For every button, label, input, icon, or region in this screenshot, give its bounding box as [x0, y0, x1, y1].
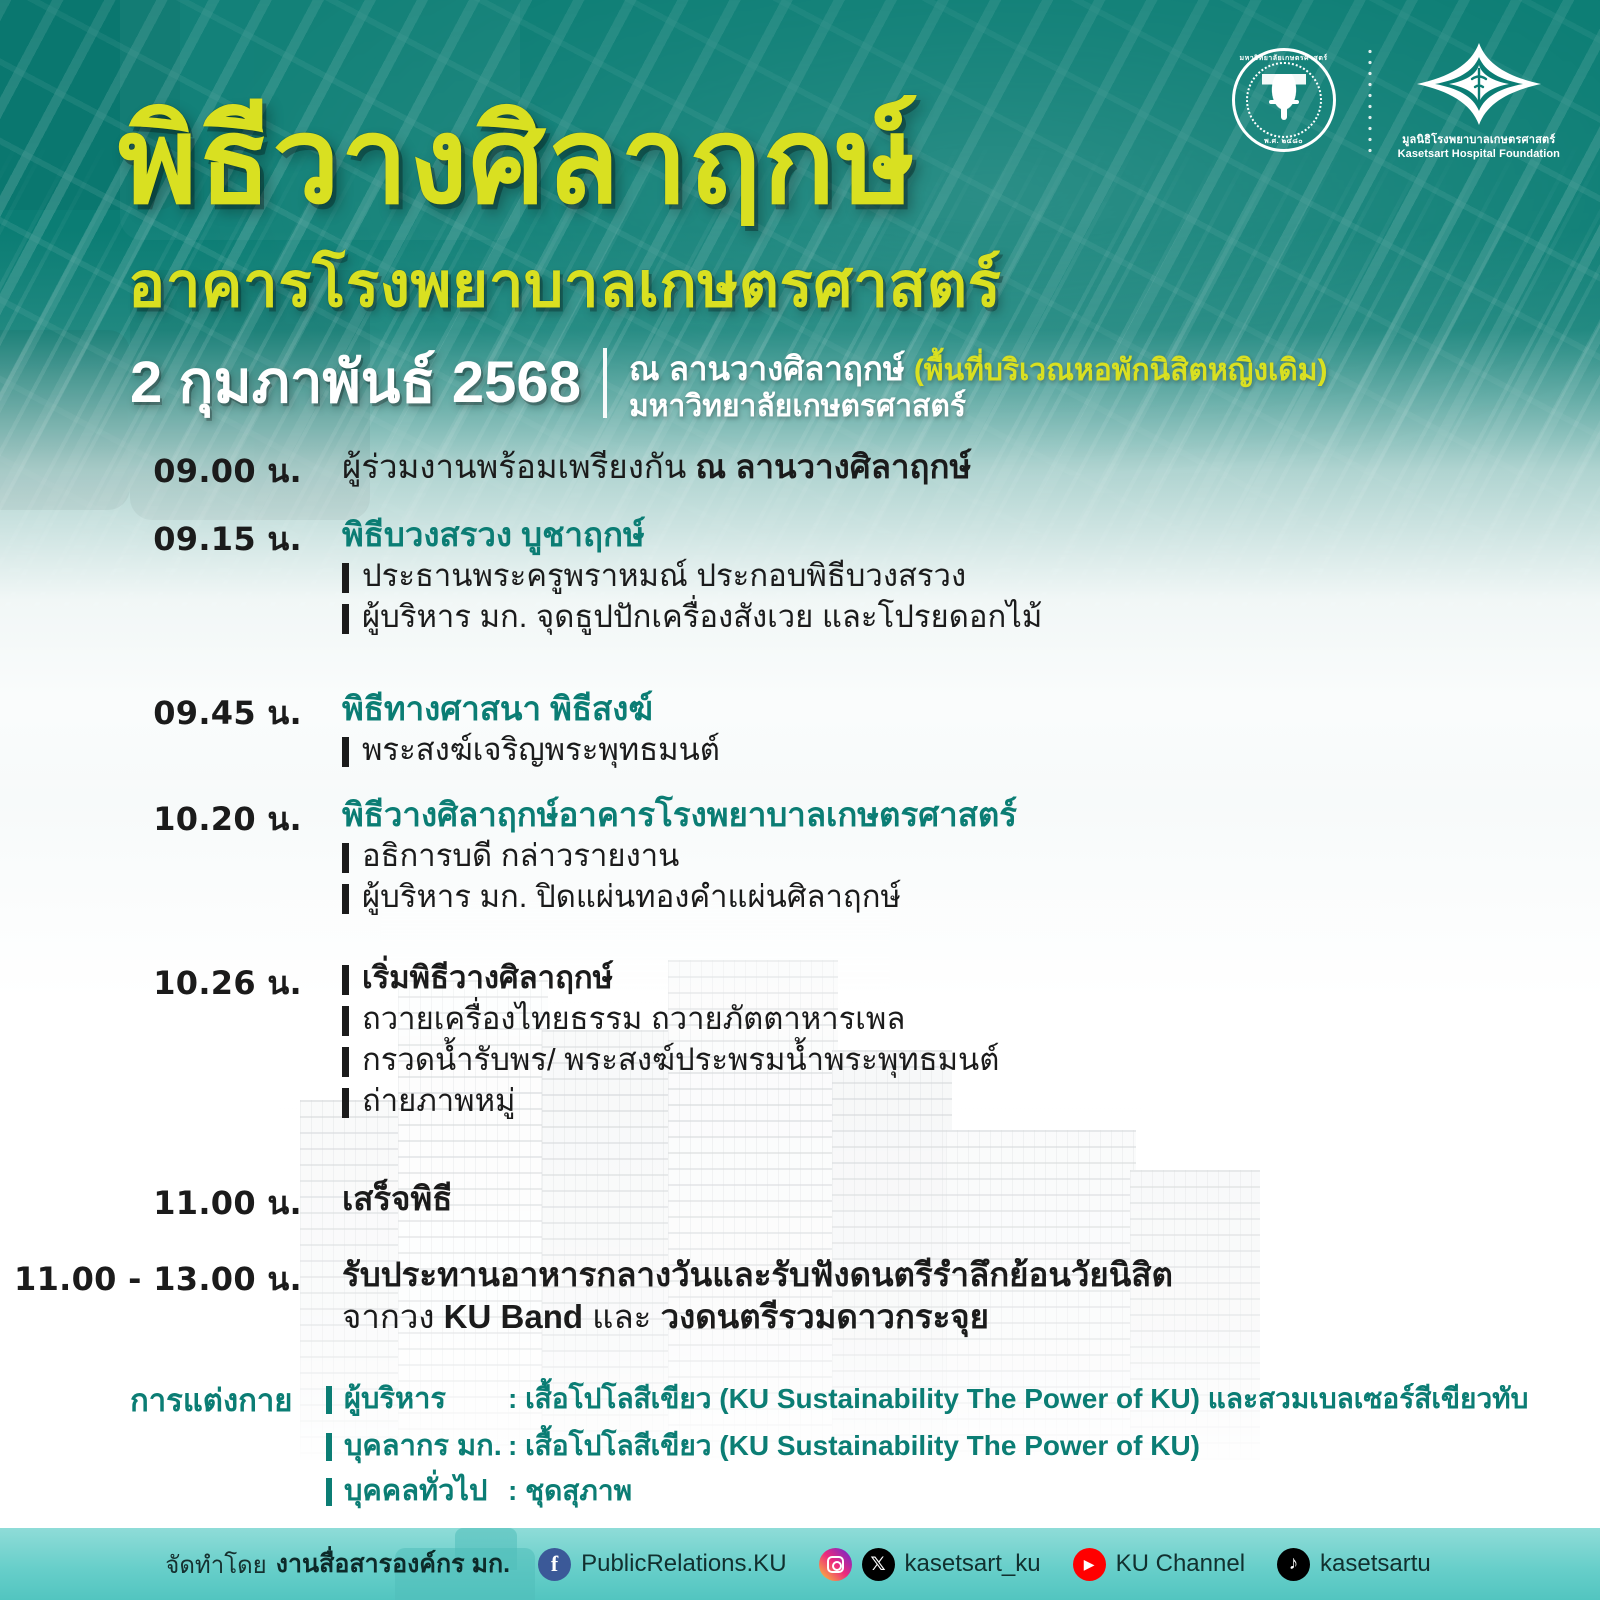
schedule-time: 09.00 น.	[0, 446, 330, 497]
page-title: พิธีวางศิลาฤกษ์	[118, 98, 916, 224]
dress-code-row: การแต่งกาย ผู้บริหาร : เสื้อโปโลสีเขียว …	[130, 1382, 1530, 1419]
schedule-heading: พิธีทางศาสนา พิธีสงฆ์	[342, 688, 1600, 730]
schedule-heading: พิธีบวงสรวง บูชาฤกษ์	[342, 514, 1600, 556]
schedule-sub-item: ถ่ายภาพหมู่	[342, 1081, 1600, 1122]
dress-code-row: บุคลากร มก. : เสื้อโปโลสีเขียว (KU Susta…	[130, 1429, 1530, 1464]
schedule-sub-item: กรวดน้ำรับพร/ พระสงฆ์ประพรมน้ำพระพุทธมนต…	[342, 1040, 1600, 1081]
schedule-sub-item: พระสงฆ์เจริญพระพุทธมนต์	[342, 730, 1600, 771]
footer-made-by-label: จัดทำโดย	[165, 1545, 266, 1584]
schedule-body: เริ่มพิธีวางศิลาฤกษ์ถวายเครื่องไทยธรรม ถ…	[330, 958, 1600, 1122]
kasetsart-hospital-foundation-logo	[1413, 41, 1545, 127]
page-subtitle: อาคารโรงพยาบาลเกษตรศาสตร์	[128, 252, 1001, 320]
schedule-heading-line2: จากวง KU Band และ วงดนตรีรวมดาวกระจุย	[342, 1296, 1600, 1338]
dress-code-value: : ชุดสุภาพ	[508, 1474, 632, 1508]
schedule-body: พิธีวางศิลาฤกษ์อาคารโรงพยาบาลเกษตรศาสตร์…	[330, 794, 1600, 918]
event-date: 2 กุมภาพันธ์ 2568	[130, 348, 581, 412]
schedule-body: ผู้ร่วมงานพร้อมเพรียงกัน ณ ลานวางศิลาฤกษ…	[330, 446, 1600, 497]
schedule-heading: รับประทานอาหารกลางวันและรับฟังดนตรีรำลึก…	[342, 1254, 1600, 1296]
schedule-body: พิธีบวงสรวง บูชาฤกษ์ประธานพระครูพราหมณ์ …	[330, 514, 1600, 638]
schedule-sub-item: อธิการบดี กล่าวรายงาน	[342, 836, 1600, 877]
poster-root: มหาวิทยาลัยเกษตรศาสตร์ พ.ศ. ๒๔๘๐ มูลนิธิ…	[0, 0, 1600, 1600]
ku-seal-top-text: มหาวิทยาลัยเกษตรศาสตร์	[1224, 53, 1344, 64]
footer-bar: จัดทำโดย งานสื่อสารองค์กร มก. f PublicRe…	[0, 1528, 1600, 1600]
schedule-heading: พิธีวางศิลาฤกษ์อาคารโรงพยาบาลเกษตรศาสตร์	[342, 794, 1600, 836]
dress-code-who: บุคคลทั่วไป	[326, 1474, 508, 1509]
schedule-row: 10.20 น.พิธีวางศิลาฤกษ์อาคารโรงพยาบาลเกษ…	[0, 794, 1600, 918]
ku-seal-icon: มหาวิทยาลัยเกษตรศาสตร์ พ.ศ. ๒๔๘๐	[1224, 40, 1344, 160]
dress-code-section: การแต่งกาย ผู้บริหาร : เสื้อโปโลสีเขียว …	[130, 1382, 1530, 1519]
schedule-body: เสร็จพิธี	[330, 1178, 1600, 1229]
schedule-row: 09.45 น.พิธีทางศาสนา พิธีสงฆ์พระสงฆ์เจริ…	[0, 688, 1600, 771]
youtube-icon[interactable]: ▶	[1073, 1548, 1106, 1581]
foundation-name-th: มูลนิธิโรงพยาบาลเกษตรศาสตร์	[1398, 130, 1560, 148]
social-x-twitter[interactable]: 𝕏 kasetsart_ku	[862, 1548, 1045, 1581]
venue-note: (พื้นที่บริเวณหอพักนิสิตหญิงเดิม)	[914, 354, 1328, 387]
header-logos: มหาวิทยาลัยเกษตรศาสตร์ พ.ศ. ๒๔๘๐ มูลนิธิ…	[1224, 40, 1560, 160]
dress-code-who: ผู้บริหาร	[326, 1382, 508, 1417]
social-tiktok[interactable]: ♪ kasetsartu	[1277, 1548, 1435, 1581]
schedule-sub-item: เริ่มพิธีวางศิลาฤกษ์	[342, 958, 1600, 999]
schedule-time: 11.00 - 13.00 น.	[0, 1254, 330, 1338]
logo-divider	[1368, 46, 1372, 154]
footer-organization: งานสื่อสารองค์กร มก.	[276, 1544, 510, 1584]
youtube-handle[interactable]: KU Channel	[1116, 1550, 1245, 1578]
tiktok-handle[interactable]: kasetsartu	[1320, 1550, 1431, 1578]
schedule-time: 10.26 น.	[0, 958, 330, 1122]
foundation-logo-block: มูลนิธิโรงพยาบาลเกษตรศาสตร์ Kasetsart Ho…	[1398, 41, 1560, 160]
date-venue-divider	[603, 348, 607, 418]
schedule-body: รับประทานอาหารกลางวันและรับฟังดนตรีรำลึก…	[330, 1254, 1600, 1338]
facebook-icon[interactable]: f	[538, 1548, 571, 1581]
event-venue-line2: มหาวิทยาลัยเกษตรศาสตร์	[629, 389, 1328, 425]
schedule-time: 11.00 น.	[0, 1178, 330, 1229]
schedule-sub-item: ผู้บริหาร มก. ปิดแผ่นทองคำแผ่นศิลาฤกษ์	[342, 877, 1600, 918]
schedule-row: 11.00 น.เสร็จพิธี	[0, 1178, 1600, 1229]
dress-code-row: บุคคลทั่วไป : ชุดสุภาพ	[130, 1474, 1530, 1509]
dress-code-who: บุคลากร มก.	[326, 1429, 508, 1464]
schedule-sub-item: ถวายเครื่องไทยธรรม ถวายภัตตาหารเพล	[342, 999, 1600, 1040]
schedule-row: 09.00 น.ผู้ร่วมงานพร้อมเพรียงกัน ณ ลานวา…	[0, 446, 1600, 497]
schedule-time: 09.45 น.	[0, 688, 330, 771]
x-twitter-icon[interactable]: 𝕏	[862, 1548, 895, 1581]
schedule-sub-item: ประธานพระครูพราหมณ์ ประกอบพิธีบวงสรวง	[342, 556, 1600, 597]
facebook-handle[interactable]: PublicRelations.KU	[581, 1550, 786, 1578]
schedule-row: 11.00 - 13.00 น.รับประทานอาหารกลางวันและ…	[0, 1254, 1600, 1338]
event-venue-line1: ณ ลานวางศิลาฤกษ์ (พื้นที่บริเวณหอพักนิสิ…	[629, 350, 1328, 389]
social-youtube[interactable]: ▶ KU Channel	[1073, 1548, 1249, 1581]
venue-primary: ณ ลานวางศิลาฤกษ์	[629, 350, 905, 387]
dress-code-value: : เสื้อโปโลสีเขียว (KU Sustainability Th…	[508, 1429, 1200, 1463]
schedule-time: 10.20 น.	[0, 794, 330, 918]
schedule-heading: ผู้ร่วมงานพร้อมเพรียงกัน ณ ลานวางศิลาฤกษ…	[342, 446, 1600, 488]
schedule-row: 10.26 น.เริ่มพิธีวางศิลาฤกษ์ถวายเครื่องไ…	[0, 958, 1600, 1122]
instagram-icon[interactable]	[819, 1548, 852, 1581]
dress-code-title: การแต่งกาย	[130, 1382, 326, 1419]
schedule-row: 09.15 น.พิธีบวงสรวง บูชาฤกษ์ประธานพระครู…	[0, 514, 1600, 638]
foundation-name-en: Kasetsart Hospital Foundation	[1398, 148, 1560, 160]
schedule-body: พิธีทางศาสนา พิธีสงฆ์พระสงฆ์เจริญพระพุทธ…	[330, 688, 1600, 771]
tiktok-icon[interactable]: ♪	[1277, 1548, 1310, 1581]
dress-code-value: : เสื้อโปโลสีเขียว (KU Sustainability Th…	[508, 1382, 1528, 1416]
schedule-heading: เสร็จพิธี	[342, 1178, 1600, 1220]
schedule-sub-item: ผู้บริหาร มก. จุดธูปปักเครื่องสังเวย และ…	[342, 597, 1600, 638]
social-facebook[interactable]: f PublicRelations.KU	[538, 1548, 790, 1581]
x-handle[interactable]: kasetsart_ku	[905, 1550, 1041, 1578]
social-instagram[interactable]	[819, 1548, 852, 1581]
ku-seal-bottom-text: พ.ศ. ๒๔๘๐	[1224, 136, 1344, 147]
event-date-venue: 2 กุมภาพันธ์ 2568 ณ ลานวางศิลาฤกษ์ (พื้น…	[130, 348, 1327, 425]
schedule-time: 09.15 น.	[0, 514, 330, 638]
